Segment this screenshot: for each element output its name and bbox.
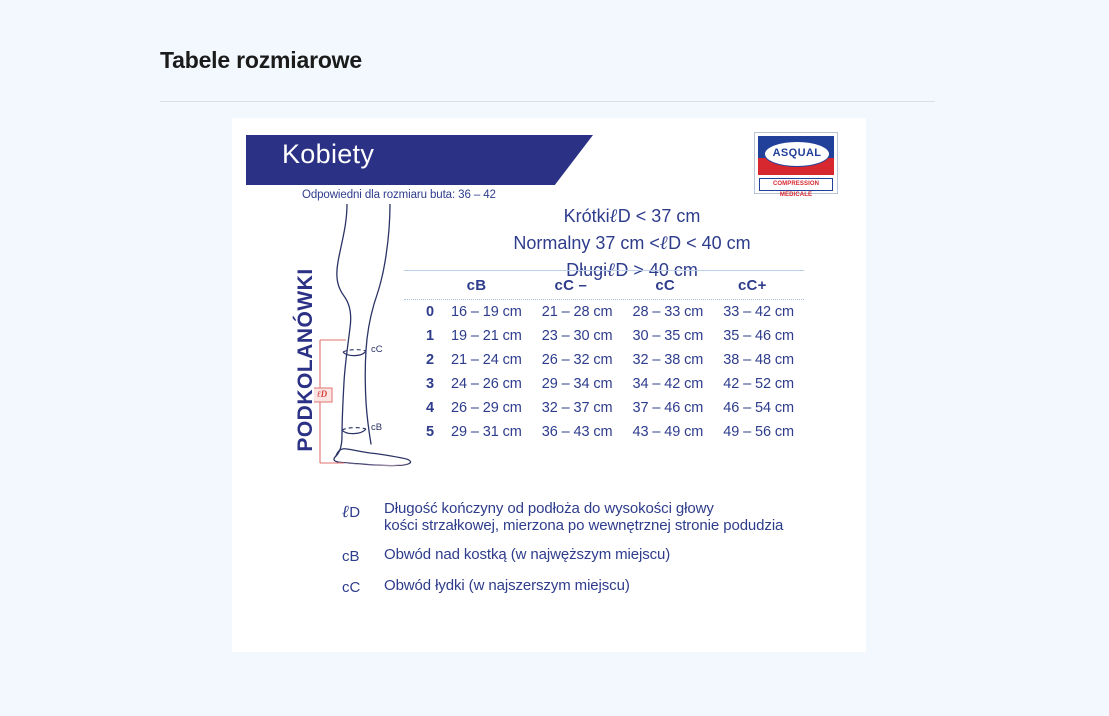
asqual-logo: ASQUAL COMPRESSION MÉDICALE xyxy=(754,132,838,194)
size-table-body: 0 16 – 19 cm 21 – 28 cm 28 – 33 cm 33 – … xyxy=(404,300,804,444)
table-header-row: cB cC – cC cC+ xyxy=(404,271,804,299)
diagram-label-ld: ℓD xyxy=(314,389,330,399)
size-table: cB cC – cC cC+ xyxy=(404,271,804,299)
table-row: 3 24 – 26 cm 29 – 34 cm 34 – 42 cm 42 – … xyxy=(404,372,804,396)
size-table-wrapper: cB cC – cC cC+ 0 16 – 19 cm 21 – 28 cm 2… xyxy=(404,270,804,444)
category-title: Kobiety xyxy=(282,141,374,168)
cell-cb: 26 – 29 cm xyxy=(441,396,532,420)
ld-glyph-normal: ℓ xyxy=(660,233,668,254)
legend-symbol-ld-rest: D xyxy=(349,504,360,521)
size-chart-card: Kobiety ASQUAL COMPRESSION MÉDICALE Odpo… xyxy=(232,118,866,652)
column-header-cc-plus: cC+ xyxy=(701,271,804,299)
logo-caption: COMPRESSION MÉDICALE xyxy=(759,178,833,191)
size-table-head: cB cC – cC cC+ xyxy=(404,271,804,299)
leg-front-contour xyxy=(365,204,390,444)
cell-cc-minus: 21 – 28 cm xyxy=(532,300,623,324)
cell-cc-minus: 36 – 43 cm xyxy=(532,420,623,444)
legend-item-ld: ℓD Długość kończyny od podłoża do wysoko… xyxy=(342,500,852,534)
legend-text-ld: Długość kończyny od podłoża do wysokości… xyxy=(384,500,783,534)
table-row: 2 21 – 24 cm 26 – 32 cm 32 – 38 cm 38 – … xyxy=(404,348,804,372)
cell-cc: 34 – 42 cm xyxy=(623,372,714,396)
cell-cc-minus: 26 – 32 cm xyxy=(532,348,623,372)
cell-cc-plus: 49 – 56 cm xyxy=(713,420,804,444)
header-divider xyxy=(160,101,935,102)
cb-measure-dashed xyxy=(342,428,366,430)
page-title: Tabele rozmiarowe xyxy=(160,48,935,101)
legend-item-cc: cC Obwód łydki (w najszerszym miejscu) xyxy=(342,577,852,596)
cell-cc-minus: 23 – 30 cm xyxy=(532,324,623,348)
table-row: 5 29 – 31 cm 36 – 43 cm 43 – 49 cm 49 – … xyxy=(404,420,804,444)
cell-cc-plus: 42 – 52 cm xyxy=(713,372,804,396)
table-row: 1 19 – 21 cm 23 – 30 cm 30 – 35 cm 35 – … xyxy=(404,324,804,348)
logo-oval: ASQUAL xyxy=(764,141,830,167)
cell-size: 2 xyxy=(404,348,441,372)
cell-cc-plus: 38 – 48 cm xyxy=(713,348,804,372)
table-row: 4 26 – 29 cm 32 – 37 cm 37 – 46 cm 46 – … xyxy=(404,396,804,420)
ld-glyph-short: ℓ xyxy=(610,206,618,227)
column-header-size xyxy=(404,271,441,299)
cell-size: 5 xyxy=(404,420,441,444)
column-header-cc-minus: cC – xyxy=(512,271,630,299)
page-header: Tabele rozmiarowe xyxy=(160,48,935,102)
column-header-cc: cC xyxy=(630,271,701,299)
legend-text-cb: Obwód nad kostką (w najwęższym miejscu) xyxy=(384,546,670,563)
measurement-legend: ℓD Długość kończyny od podłoża do wysoko… xyxy=(342,500,852,608)
cell-cc-minus: 32 – 37 cm xyxy=(532,396,623,420)
legend-symbol-cc: cC xyxy=(342,577,384,596)
length-rule-short-expr: D < 37 cm xyxy=(618,206,701,226)
cell-cc-plus: 35 – 46 cm xyxy=(713,324,804,348)
legend-text-cc: Obwód łydki (w najszerszym miejscu) xyxy=(384,577,630,594)
cell-size: 0 xyxy=(404,300,441,324)
length-rule-normal-expr: D < 40 cm xyxy=(668,233,751,253)
cell-cc: 28 – 33 cm xyxy=(623,300,714,324)
cell-cc-minus: 29 – 34 cm xyxy=(532,372,623,396)
cell-cb: 16 – 19 cm xyxy=(441,300,532,324)
cell-cb: 19 – 21 cm xyxy=(441,324,532,348)
cell-cc: 30 – 35 cm xyxy=(623,324,714,348)
size-table-body-wrap: 0 16 – 19 cm 21 – 28 cm 28 – 33 cm 33 – … xyxy=(404,300,804,444)
table-row: 0 16 – 19 cm 21 – 28 cm 28 – 33 cm 33 – … xyxy=(404,300,804,324)
cell-cb: 24 – 26 cm xyxy=(441,372,532,396)
cell-size: 1 xyxy=(404,324,441,348)
cell-cc: 43 – 49 cm xyxy=(623,420,714,444)
legend-text-ld-line2: kości strzałkowej, mierzona po wewnętrzn… xyxy=(384,517,783,534)
diagram-label-cc: cC xyxy=(371,344,383,355)
leg-back-contour xyxy=(336,204,351,456)
column-header-cb: cB xyxy=(441,271,512,299)
length-rule-normal: Normalny 37 cm <ℓD < 40 cm xyxy=(432,230,832,257)
cell-cc-plus: 46 – 54 cm xyxy=(713,396,804,420)
cell-size: 4 xyxy=(404,396,441,420)
cell-cb: 21 – 24 cm xyxy=(441,348,532,372)
cell-cb: 29 – 31 cm xyxy=(441,420,532,444)
cb-measure-solid xyxy=(342,429,366,434)
length-rule-normal-name: Normalny 37 cm < xyxy=(513,233,660,253)
legend-symbol-ld: ℓD xyxy=(342,500,384,522)
diagram-label-cb: cB xyxy=(371,422,382,433)
cell-cc: 32 – 38 cm xyxy=(623,348,714,372)
legend-symbol-cb: cB xyxy=(342,546,384,565)
cell-cc-plus: 33 – 42 cm xyxy=(713,300,804,324)
legend-text-ld-line1: Długość kończyny od podłoża do wysokości… xyxy=(384,500,714,517)
length-rule-short: KrótkiℓD < 37 cm xyxy=(432,203,832,230)
length-rule-short-name: Krótki xyxy=(564,206,610,226)
logo-brand-name: ASQUAL xyxy=(765,142,829,165)
shoe-size-note: Odpowiedni dla rozmiaru buta: 36 – 42 xyxy=(302,189,496,201)
legend-item-cb: cB Obwód nad kostką (w najwęższym miejsc… xyxy=(342,546,852,565)
cell-cc: 37 – 46 cm xyxy=(623,396,714,420)
cell-size: 3 xyxy=(404,372,441,396)
